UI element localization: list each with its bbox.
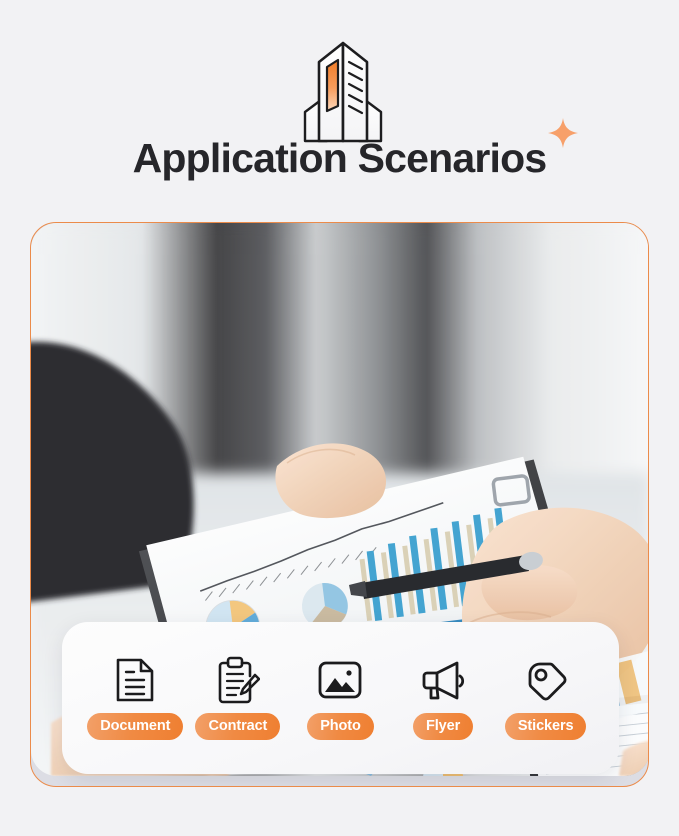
category-item-photo[interactable]: Photo	[289, 656, 392, 740]
page-header: Application Scenarios	[0, 0, 679, 212]
page-title-row: Application Scenarios	[0, 133, 679, 183]
category-item-document[interactable]: Document	[84, 656, 187, 740]
category-panel: Document Contract	[62, 622, 619, 774]
category-pill-document[interactable]: Document	[87, 713, 183, 740]
megaphone-icon	[419, 656, 467, 704]
building-icon	[283, 38, 403, 143]
category-item-stickers[interactable]: Stickers	[494, 656, 597, 740]
category-pill-flyer[interactable]: Flyer	[413, 713, 473, 740]
clipboard-pencil-icon	[216, 656, 260, 704]
category-item-contract[interactable]: Contract	[187, 656, 290, 740]
sparkle-icon	[546, 117, 580, 151]
category-item-flyer[interactable]: Flyer	[392, 656, 495, 740]
category-pill-contract[interactable]: Contract	[195, 713, 280, 740]
category-pill-stickers[interactable]: Stickers	[505, 713, 587, 740]
hero-card: Document Contract	[30, 222, 649, 787]
image-icon	[317, 656, 363, 704]
page-title: Application Scenarios	[133, 135, 547, 181]
document-icon	[114, 656, 156, 704]
category-pill-photo[interactable]: Photo	[307, 713, 374, 740]
price-tag-icon	[524, 656, 568, 704]
